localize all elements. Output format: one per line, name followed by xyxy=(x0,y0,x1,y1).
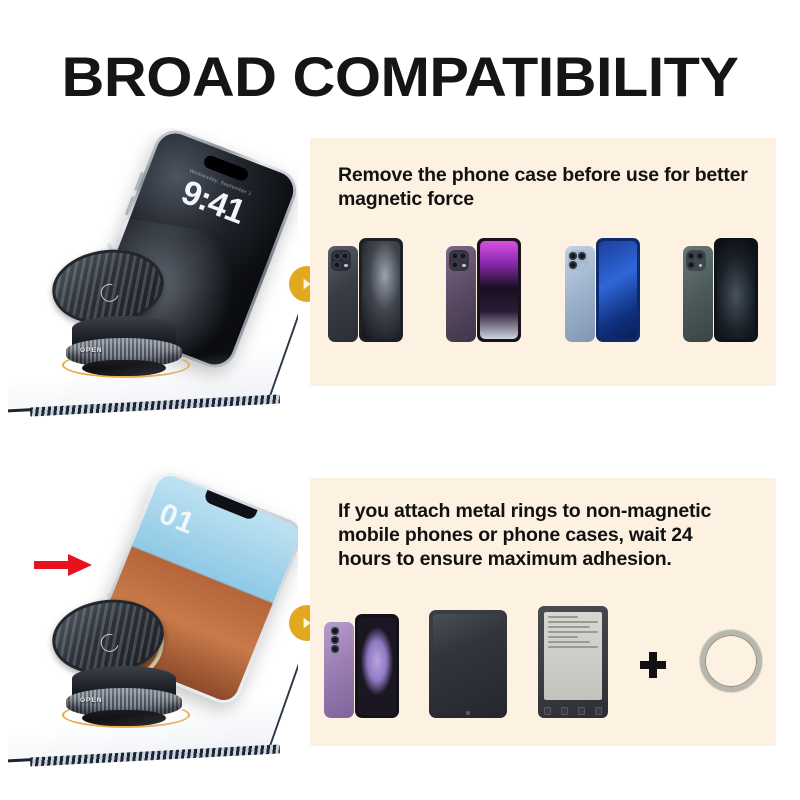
home-button-icon xyxy=(466,711,470,715)
tablet-screen xyxy=(433,614,503,714)
phone-screen xyxy=(362,241,400,339)
dashboard-surface xyxy=(8,642,298,762)
metal-ring-accessory xyxy=(700,630,762,692)
phone-back xyxy=(328,246,358,342)
panel-2-text: If you attach metal rings to non-magneti… xyxy=(310,500,776,571)
device-samsung-galaxy xyxy=(324,614,399,718)
phone-screen xyxy=(480,241,518,339)
phone-front xyxy=(359,238,403,342)
plus-icon xyxy=(640,652,666,678)
device-iphone-13-pro xyxy=(565,238,640,342)
phone-front xyxy=(477,238,521,342)
info-panel-remove-case: Remove the phone case before use for bet… xyxy=(310,138,776,386)
camera-module-icon xyxy=(329,627,343,651)
dashboard-surface xyxy=(8,292,298,412)
camera-module-icon xyxy=(568,250,588,271)
wallpaper-number: 01 xyxy=(154,497,200,542)
info-panel-metal-ring: If you attach metal rings to non-magneti… xyxy=(310,478,776,746)
notch-icon xyxy=(203,490,258,521)
camera-module-icon xyxy=(449,250,469,271)
device-ereader xyxy=(538,606,608,718)
camera-module-icon xyxy=(686,250,706,271)
page-title: BROAD COMPATIBILITY xyxy=(0,44,800,109)
device-iphone-12-pro xyxy=(683,238,758,342)
camera-module-icon xyxy=(331,250,351,271)
product-photo-mount-with-android: 01 OPEN xyxy=(8,468,298,768)
device-iphone-15-pro-max xyxy=(328,238,403,342)
product-infographic: BROAD COMPATIBILITY Wednesday, September… xyxy=(0,0,800,800)
phone-screen xyxy=(599,241,637,339)
ereader-buttons xyxy=(544,707,602,715)
panel-1-text: Remove the phone case before use for bet… xyxy=(310,164,776,212)
phone-front xyxy=(714,238,758,342)
product-photo-mount-with-iphone: Wednesday, September 1 9:41 OPEN xyxy=(8,128,298,418)
ereader-screen xyxy=(544,612,602,700)
phone-back xyxy=(446,246,476,342)
phone-screen xyxy=(358,617,396,715)
phone-back xyxy=(324,622,354,718)
compatible-iphones-row xyxy=(310,238,776,342)
phone-back xyxy=(683,246,713,342)
device-tablet xyxy=(429,610,507,718)
red-arrow-icon xyxy=(34,554,92,576)
phone-front xyxy=(355,614,399,718)
phone-screen xyxy=(717,241,755,339)
phone-front xyxy=(596,238,640,342)
phone-back xyxy=(565,246,595,342)
compatible-devices-row xyxy=(310,606,776,718)
device-iphone-14-pro xyxy=(446,238,521,342)
